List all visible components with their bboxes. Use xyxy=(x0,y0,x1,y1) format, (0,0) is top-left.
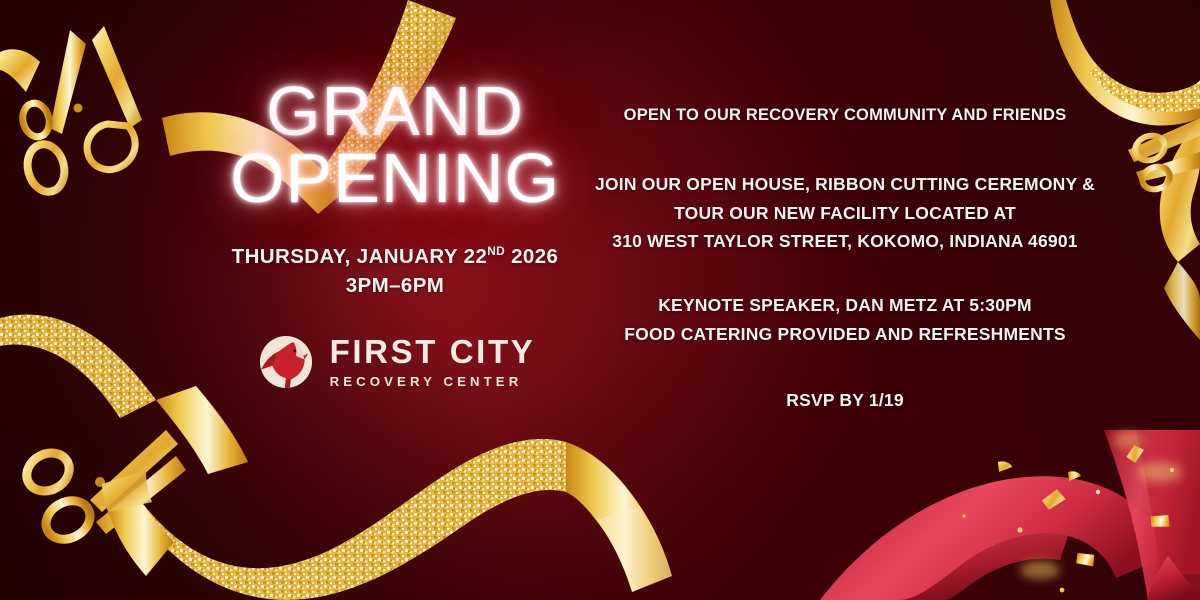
rsvp-deadline: RSVP BY 1/19 xyxy=(585,386,1105,414)
brand-wordmark: FIRST CITY RECOVERY CENTER xyxy=(330,335,536,388)
event-description: JOIN OUR OPEN HOUSE, RIBBON CUTTING CERE… xyxy=(585,170,1105,255)
event-address: 310 WEST TAYLOR STREET, KOKOMO, INDIANA … xyxy=(612,231,1077,251)
event-description-line-1: JOIN OUR OPEN HOUSE, RIBBON CUTTING CERE… xyxy=(595,174,1095,194)
catering-info: FOOD CATERING PROVIDED AND REFRESHMENTS xyxy=(624,324,1065,344)
brand-subtitle: RECOVERY CENTER xyxy=(330,375,536,388)
event-date-main: THURSDAY, JANUARY 22 xyxy=(232,245,488,268)
details-column: OPEN TO OUR RECOVERY COMMUNITY AND FRIEN… xyxy=(585,103,1105,414)
event-year: 2026 xyxy=(505,245,558,268)
event-banner: GRAND OPENING THURSDAY, JANUARY 22ND 202… xyxy=(0,0,1200,600)
date-ordinal-suffix: ND xyxy=(487,245,505,259)
keynote-speaker: KEYNOTE SPEAKER, DAN METZ AT 5:30PM xyxy=(658,295,1032,315)
brand-name: FIRST CITY xyxy=(330,335,536,368)
keynote-info: KEYNOTE SPEAKER, DAN METZ AT 5:30PM FOOD… xyxy=(585,291,1105,348)
cardinal-bird-icon xyxy=(255,331,317,393)
event-description-line-2: TOUR OUR NEW FACILITY LOCATED AT xyxy=(674,203,1016,223)
invitation-intro: OPEN TO OUR RECOVERY COMMUNITY AND FRIEN… xyxy=(585,103,1105,127)
